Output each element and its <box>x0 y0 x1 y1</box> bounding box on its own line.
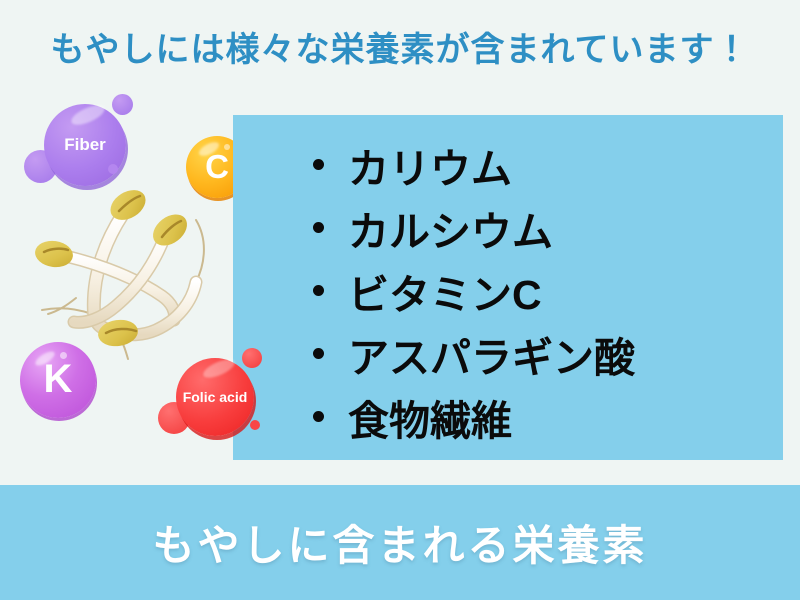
list-item: アスパラギン酸 <box>313 322 635 385</box>
folic-acid-satellite-top <box>242 348 262 368</box>
vitamin-k-sphere-icon: K <box>20 342 100 422</box>
list-item: カルシウム <box>313 196 635 259</box>
vitamin-k-label: K <box>44 359 73 399</box>
fiber-bubble-satellite-small <box>108 164 118 174</box>
list-item: 食物繊維 <box>313 385 635 448</box>
nutrient-label: カルシウム <box>348 198 553 258</box>
nutrient-label: 食物繊維 <box>348 387 512 447</box>
bullet-icon <box>313 411 324 422</box>
nutrient-label: カリウム <box>348 135 512 195</box>
vitamin-k-sphere-main: K <box>20 342 96 418</box>
nutrient-panel: カリウム カルシウム ビタミンC アスパラギン酸 食物繊維 <box>233 115 783 460</box>
bullet-icon <box>313 159 324 170</box>
nutrient-label: アスパラギン酸 <box>348 324 635 384</box>
fiber-label: Fiber <box>64 135 106 155</box>
nutrient-list: カリウム カルシウム ビタミンC アスパラギン酸 食物繊維 <box>313 133 635 448</box>
vitamin-c-label: C <box>205 150 229 183</box>
banner-title: もやしに含まれる栄養素 <box>152 512 647 573</box>
bottom-banner: もやしに含まれる栄養素 <box>0 485 800 600</box>
nutrient-label: ビタミンC <box>348 261 542 321</box>
list-item: カリウム <box>313 133 635 196</box>
slide-canvas: もやしには様々な栄養素が含まれています！ <box>0 0 800 600</box>
bullet-icon <box>313 285 324 296</box>
bullet-icon <box>313 222 324 233</box>
list-item: ビタミンC <box>313 259 635 322</box>
folic-acid-bubble-icon: Folic acid <box>158 348 263 438</box>
page-title: もやしには様々な栄養素が含まれています！ <box>0 22 800 71</box>
bullet-icon <box>313 348 324 359</box>
folic-acid-bubble-main: Folic acid <box>176 358 254 436</box>
fiber-bubble-satellite-top <box>112 94 133 115</box>
folic-acid-label: Folic acid <box>183 389 248 405</box>
folic-acid-satellite-small <box>250 420 260 430</box>
fiber-bubble-icon: Fiber <box>22 92 147 192</box>
bean-sprouts-illustration <box>20 178 245 363</box>
